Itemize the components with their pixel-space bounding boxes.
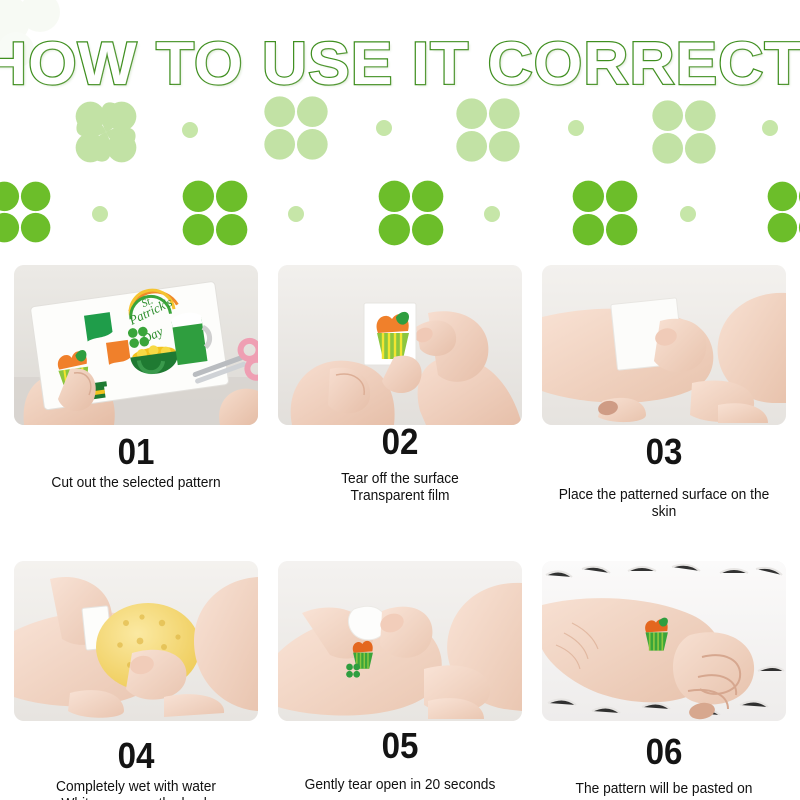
step-caption: Completely wet with water White paper on… bbox=[20, 779, 252, 800]
step-card-02: 02 Tear off the surface Transparent film bbox=[278, 265, 522, 521]
page-title-container: HOW TO USE IT CORRECTLY? bbox=[0, 32, 800, 104]
four-leaf-clover-icon bbox=[166, 164, 264, 262]
dot-icon bbox=[92, 206, 108, 222]
clover-band-bottom bbox=[0, 160, 800, 252]
dot-icon bbox=[762, 120, 778, 136]
four-leaf-clover-icon bbox=[556, 164, 654, 262]
dot-icon bbox=[288, 206, 304, 222]
dot-icon bbox=[376, 120, 392, 136]
step-caption: Place the patterned surface on the skin bbox=[548, 487, 780, 521]
photo-tear-off-film bbox=[278, 265, 522, 425]
photo-wet-with-sponge bbox=[14, 561, 258, 721]
step-card-01: St. Patrick's Day bbox=[14, 265, 258, 521]
photo-place-on-skin bbox=[542, 265, 786, 425]
dot-icon bbox=[182, 122, 198, 138]
four-leaf-clover-icon bbox=[362, 164, 460, 262]
step-number: 02 bbox=[288, 421, 512, 463]
photo-peel-paper bbox=[278, 561, 522, 721]
dot-icon bbox=[680, 206, 696, 222]
step-card-05: 05 Gently tear open in 20 seconds bbox=[278, 561, 522, 800]
photo-cut-out-pattern: St. Patrick's Day bbox=[14, 265, 258, 425]
step-card-06: 06 The pattern will be pasted on bbox=[542, 561, 786, 800]
dot-icon bbox=[568, 120, 584, 136]
step-number: 05 bbox=[288, 725, 512, 767]
steps-grid: St. Patrick's Day bbox=[14, 265, 786, 800]
step-caption: Cut out the selected pattern bbox=[20, 475, 252, 492]
photo-finished-tattoo bbox=[542, 561, 786, 721]
dot-icon bbox=[484, 206, 500, 222]
step-card-03: 03 Place the patterned surface on the sk… bbox=[542, 265, 786, 521]
step-number: 01 bbox=[24, 431, 248, 473]
step-number: 06 bbox=[552, 731, 776, 773]
step-card-04: 04 Completely wet with water White paper… bbox=[14, 561, 258, 800]
step-number: 04 bbox=[24, 735, 248, 777]
four-leaf-clover-icon bbox=[0, 166, 66, 258]
step-caption: Tear off the surface Transparent film bbox=[284, 471, 516, 505]
step-caption: The pattern will be pasted on bbox=[548, 781, 780, 798]
step-number: 03 bbox=[552, 431, 776, 473]
poster-root: HOW TO USE IT CORRECTLY? bbox=[0, 0, 800, 800]
page-title: HOW TO USE IT CORRECTLY? bbox=[0, 32, 800, 96]
step-caption: Gently tear open in 20 seconds bbox=[284, 777, 516, 794]
four-leaf-clover-icon bbox=[752, 166, 800, 258]
